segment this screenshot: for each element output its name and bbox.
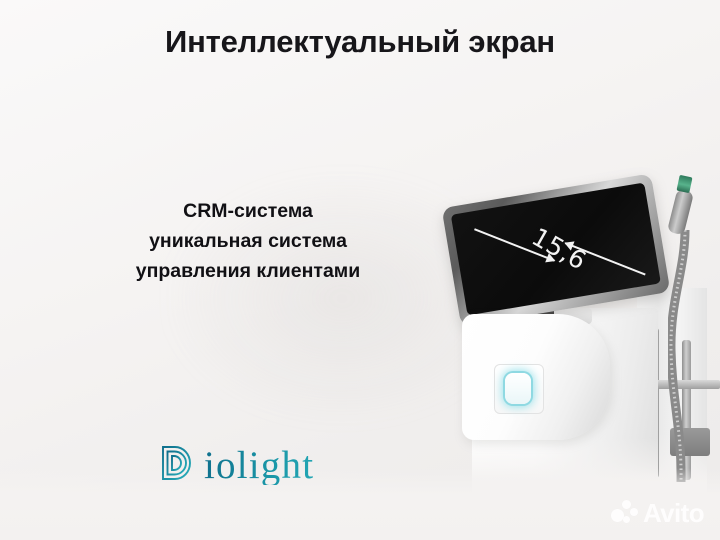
device-emblem-icon (505, 373, 531, 404)
copy-line-1: CRM-система (58, 196, 438, 226)
handpiece-grip (667, 189, 694, 236)
promo-banner: 15,6 Интеллектуальный экран CRM-система … (0, 0, 720, 540)
feature-copy: CRM-система уникальная система управлени… (58, 196, 438, 286)
avito-wordmark: Avito (643, 500, 704, 526)
copy-line-3: управления клиентами (58, 256, 438, 286)
copy-line-2: уникальная система (58, 226, 438, 256)
diolight-d-mark-icon (158, 443, 195, 488)
page-title: Интеллектуальный экран (0, 24, 720, 60)
brand-wordmark: iolight (204, 446, 314, 485)
screen-size-label: 15,6 (527, 222, 591, 276)
laser-device-image: 15,6 (432, 168, 720, 480)
avito-dots-icon (611, 500, 638, 526)
handpiece-tip-icon (676, 175, 692, 193)
avito-watermark: Avito (611, 500, 704, 526)
brand-logo: iolight (158, 443, 314, 488)
device-hose (668, 230, 694, 482)
